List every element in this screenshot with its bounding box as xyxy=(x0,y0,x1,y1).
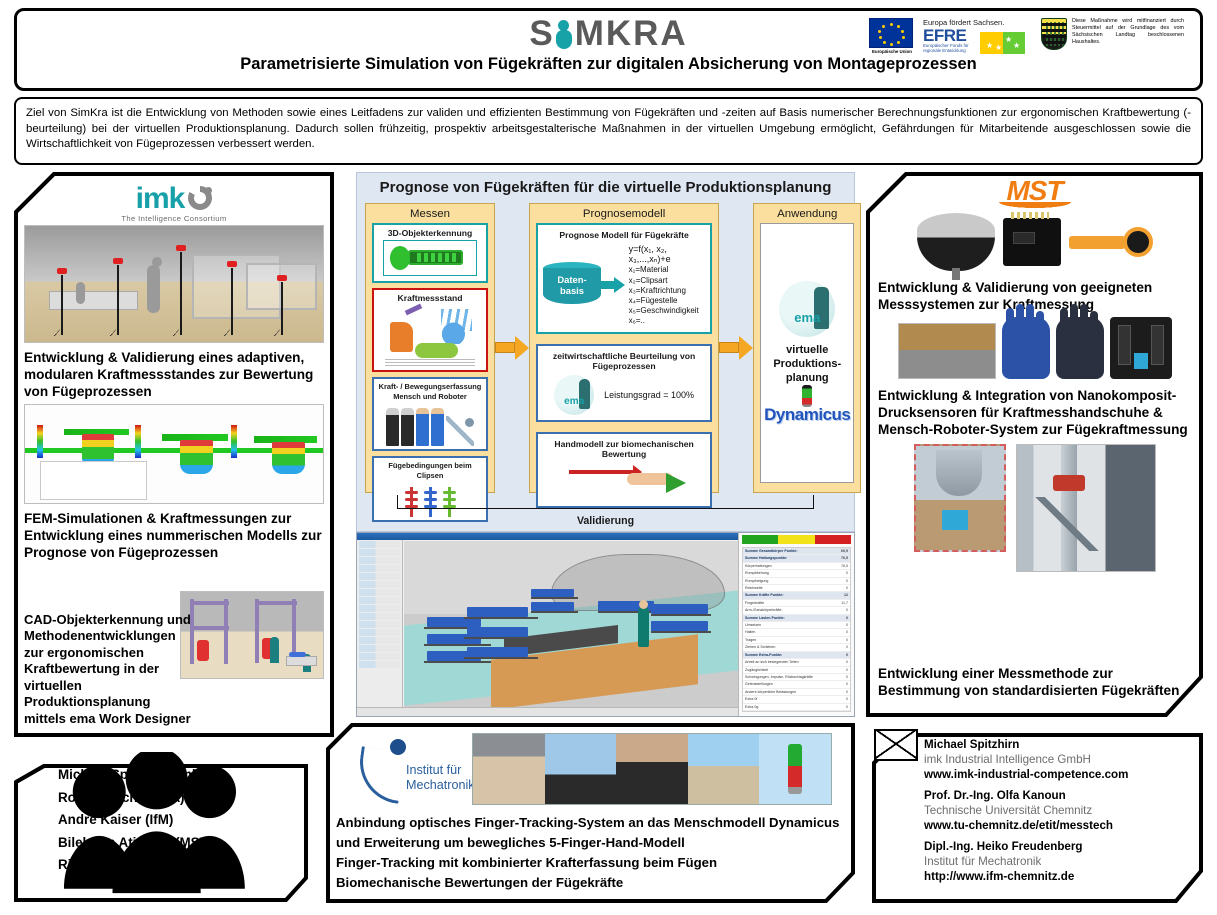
robot-gripper-photo xyxy=(1110,317,1172,379)
ema-badge-icon: ema xyxy=(554,375,594,415)
database-cylinder-icon: Daten- basis xyxy=(543,262,597,308)
sensor-gloves-photo xyxy=(878,317,1191,379)
eaws-row-value: 0 xyxy=(846,644,848,650)
eaws-row-value: 0 xyxy=(846,674,848,680)
table-row: Summe Kräfte Punkte:12 xyxy=(743,592,850,599)
prognosis-flow-diagram: Prognose von Fügekräften für die virtuel… xyxy=(356,172,855,532)
eaws-caption-line1: Ergonomiebewertung xyxy=(756,715,838,717)
eaws-row-value: 0 xyxy=(846,622,848,628)
dark-sensor-glove-icon xyxy=(1056,317,1104,379)
card-virtuelle-produktionsplanung: ema virtuelle Produktions- planung Dynam… xyxy=(760,223,854,483)
teal-right-arrow-icon xyxy=(601,277,625,293)
cad-virtual-planning-scene xyxy=(180,591,324,679)
stage-prognosemodell-title: Prognosemodell xyxy=(530,204,718,223)
eaws-row-value: 0 xyxy=(846,659,848,665)
db-label-line2: basis xyxy=(560,285,584,296)
table-row: Gelenkstellungen0 xyxy=(743,681,850,688)
mst-wordmark: MST xyxy=(1006,175,1062,206)
list-item: Roland Michel (imk) xyxy=(58,787,212,810)
leistungsgrad-note: Leistungsgrad = 100% xyxy=(604,390,694,400)
list-item: Michael Spitzhirn (imk) xyxy=(58,764,212,787)
eaws-row-label: Halten xyxy=(745,629,755,635)
contact-entry: Michael Spitzhirn imk Industrial Intelli… xyxy=(924,737,1193,782)
funding-logos: Europäische Union Europa fördert Sachsen… xyxy=(869,18,1184,54)
ema-tool-panel[interactable] xyxy=(357,540,403,707)
table-row: Tragen0 xyxy=(743,637,850,644)
contact-name: Prof. Dr.-Ing. Olfa Kanoun xyxy=(924,788,1193,803)
ifm-swoosh-icon xyxy=(355,746,406,804)
eaws-traffic-light-bar xyxy=(742,535,851,544)
ifm-section: Institut für Mechatronik Anbindung optis… xyxy=(326,723,855,903)
flexible-force-sensor-icon xyxy=(1069,227,1153,257)
left-column-imk: imk The Intelligence Consortium xyxy=(14,172,334,737)
dynamicus-logo: Dynamicus xyxy=(764,405,850,425)
list-item: Anbindung optisches Finger-Tracking-Syst… xyxy=(336,813,843,853)
table-row: Summe Haltungspunkte:76,5 xyxy=(743,555,850,562)
efre-logo: Europa fördert Sachsen. EFRE Europäische… xyxy=(923,18,1033,54)
formula-equation: y=f(x₁, x₂, x₃,...,xₙ)+e xyxy=(629,244,706,264)
strip-photo-4 xyxy=(688,734,760,804)
right-section-heading-2: Entwicklung & Integration von Nanokompos… xyxy=(878,387,1191,438)
table-row: Arm-/Ganzkörperkräfte0 xyxy=(743,607,850,614)
eaws-row-value: 0 xyxy=(846,696,848,702)
saxony-logo: Diese Maßnahme wird mitfinanziert durch … xyxy=(1041,18,1184,50)
eaws-row-value: 0 xyxy=(846,704,848,710)
table-row: Zugänglichkeit0 xyxy=(743,667,850,674)
eaws-row-label: Fingerkräfte xyxy=(745,600,764,606)
table-row: Andere körperliche Belastungen0 xyxy=(743,689,850,696)
eaws-row-label: Umsetzen xyxy=(745,622,761,628)
list-item: André Kaiser (IfM) xyxy=(58,809,212,832)
strip-photo-1 xyxy=(473,734,545,804)
card-title: Fügebedingungen beim Clipsen xyxy=(377,461,483,481)
imk-wordmark: imk xyxy=(136,182,185,216)
simkra-logo-pre: S xyxy=(529,14,554,53)
stage-anwendung: Anwendung ema virtuelle Produktions- pla… xyxy=(753,203,861,493)
efre-wordmark: EFRE xyxy=(923,28,977,43)
force-sensors-photo xyxy=(878,213,1191,271)
eaws-row-label: Körperhaltungen xyxy=(745,563,772,569)
table-row: Extra 0f0 xyxy=(743,696,850,703)
table-row: Arbeit an sich bewegenden Teilen0 xyxy=(743,659,850,666)
eaws-row-value: 0 xyxy=(846,607,848,613)
eaws-row-value: 12 xyxy=(844,592,848,598)
strip-photo-5 xyxy=(759,734,831,804)
stage-prognosemodell: Prognosemodell Prognose Modell für Fügek… xyxy=(529,203,719,493)
dynamicus-wordmark: Dynamicus xyxy=(764,405,850,424)
contact-org: imk Industrial Intelligence GmbH xyxy=(924,752,1193,767)
table-row: Summe Lasten Punkte:0 xyxy=(743,615,850,622)
eaws-row-label: Schwingungen, Impulse, Rückschlagkräfte xyxy=(745,674,813,680)
eaws-row-label: Zugänglichkeit xyxy=(745,667,768,673)
test-bench-photo xyxy=(898,323,996,379)
table-row: Schwingungen, Impulse, Rückschlagkräfte0 xyxy=(743,674,850,681)
table-row: Summe Gesamtkörper Punkte:60,9 xyxy=(743,548,850,555)
formula-var: x₂=Clipsart xyxy=(629,276,706,286)
finger-tracking-strip xyxy=(472,733,832,805)
eaws-row-value: 0 xyxy=(846,585,848,591)
card-title: Handmodell zur biomechanischen Bewertung xyxy=(543,439,705,459)
imk-logo: imk The Intelligence Consortium xyxy=(24,178,324,223)
eaws-row-label: Extra 0f xyxy=(745,696,757,702)
saxony-funding-note: Diese Maßnahme wird mitfinanziert durch … xyxy=(1072,18,1184,46)
eaws-row-label: Summe Lasten Punkte: xyxy=(745,615,785,621)
eaws-row-value: 0 xyxy=(846,689,848,695)
contact-url[interactable]: www.imk-industrial-competence.com xyxy=(924,767,1193,782)
eaws-row-label: Extra 0g xyxy=(745,704,758,710)
contact-org: Institut für Mechatronik xyxy=(924,854,1193,869)
saxony-eu-chip-icon: ★ ★ ★ ★ xyxy=(980,32,1025,54)
eaws-row-label: Summe Haltungspunkte: xyxy=(745,555,787,561)
abstract-text: Ziel von SimKra ist die Entwicklung von … xyxy=(14,97,1203,165)
eaws-caption: Ergonomiebewertung mittels EAWS xyxy=(739,715,854,717)
gripper-closeup-inset xyxy=(914,444,1006,552)
eaws-row-label: Rumpfdrehung xyxy=(745,570,769,576)
hand-pointer-icon xyxy=(555,21,575,51)
contact-box: Michael Spitzhirn imk Industrial Intelli… xyxy=(866,727,1203,903)
strip-photo-2 xyxy=(545,734,617,804)
tensile-test-machine-photo xyxy=(878,444,1191,572)
diagram-title: Prognose von Fügekräften für die virtuel… xyxy=(357,173,854,200)
table-row: Körperhaltungen76,5 xyxy=(743,563,850,570)
efre-subtitle: Europäischer Fonds für regionale Entwick… xyxy=(923,43,977,54)
table-row: Umsetzen0 xyxy=(743,622,850,629)
eaws-evaluation-panel: Summe Gesamtkörper Punkte:60,9Summe Halt… xyxy=(738,533,854,716)
eaws-row-label: Tragen xyxy=(745,637,756,643)
eaws-row-value: 0 xyxy=(846,615,848,621)
eaws-row-label: Arbeit an sich bewegenden Teilen xyxy=(745,659,799,665)
sensor-pcb-icon xyxy=(1003,218,1061,266)
author-list: Michael Spitzhirn (imk) Roland Michel (i… xyxy=(58,764,212,877)
contact-url[interactable]: www.tu-chemnitz.de/etit/messtech xyxy=(924,818,1193,833)
eaws-row-value: 60,9 xyxy=(841,548,848,554)
eaws-row-label: Summe Gesamtkörper Punkte: xyxy=(745,548,798,554)
left-section-heading-2: FEM-Simulationen & Kraftmessungen zur En… xyxy=(24,510,324,561)
eaws-row-label: Ziehen & Schieben xyxy=(745,644,775,650)
eaws-row-value: 0 xyxy=(846,667,848,673)
card-kraft-bewegungserfassung: Kraft- / Bewegungserfassung Mensch und R… xyxy=(372,377,488,451)
contact-list: Michael Spitzhirn imk Industrial Intelli… xyxy=(924,737,1193,890)
card-zeitwirtschaftliche-beurteilung: zeitwirtschaftliche Beurteilung von Füge… xyxy=(536,344,712,422)
eaws-row-label: Gelenkstellungen xyxy=(745,681,773,687)
ema-3d-view xyxy=(357,533,738,716)
formula-var: x₄=Fügestelle xyxy=(629,296,706,306)
contact-org: Technische Universität Chemnitz xyxy=(924,803,1193,818)
eaws-row-value: 0 xyxy=(846,681,848,687)
eaws-row-value: 0 xyxy=(846,570,848,576)
page-title: Parametrisierte Simulation von Fügekräft… xyxy=(17,55,1200,74)
ema-work-designer-screenshot: Summe Gesamtkörper Punkte:60,9Summe Halt… xyxy=(356,532,855,717)
eaws-row-label: Rumpfneigung xyxy=(745,578,768,584)
fem-simulation-figure xyxy=(24,404,324,504)
stage-messen-title: Messen xyxy=(366,204,494,223)
ema-titlebar xyxy=(357,533,738,540)
eaws-row-label: Andere körperliche Belastungen xyxy=(745,689,796,695)
ifm-logo-line1: Institut für xyxy=(406,763,461,777)
list-item: Bilel Ben Atitallah (MST) xyxy=(58,832,212,855)
flow-arrow-1-icon xyxy=(495,336,529,360)
list-item: Rim Barioul (MST) xyxy=(58,854,212,877)
eaws-row-value: 0 xyxy=(846,637,848,643)
table-row: Reichweite0 xyxy=(743,585,850,592)
card-title: Prognose Modell für Fügekräfte xyxy=(543,230,705,240)
motion-capture-lab-photo xyxy=(24,225,324,343)
eaws-row-value: 0 xyxy=(846,629,848,635)
eaws-row-label: Summe Extra-Punkte: xyxy=(745,652,782,658)
formula-var: x₃=Kraftrichtung xyxy=(629,286,706,296)
ifm-logo-line2: Mechatronik xyxy=(406,778,475,792)
imk-circle-icon xyxy=(188,186,212,210)
contact-entry: Prof. Dr.-Ing. Olfa Kanoun Technische Un… xyxy=(924,788,1193,833)
eaws-row-value: 76,5 xyxy=(841,555,848,561)
universal-testing-machine xyxy=(1016,444,1156,572)
table-row: Extra 0g0 xyxy=(743,704,850,711)
ema-statusbar xyxy=(357,707,738,716)
eaws-row-label: Reichweite xyxy=(745,585,763,591)
simkra-logo-post: MKRA xyxy=(575,14,688,53)
ifm-logo-text: Institut für Mechatronik xyxy=(406,763,475,793)
card-fuegebedingungen-clipsen: Fügebedingungen beim Clipsen xyxy=(372,456,488,522)
db-label-line1: Daten- xyxy=(557,274,586,285)
stage-anwendung-title: Anwendung xyxy=(754,204,860,223)
ifm-logo: Institut für Mechatronik xyxy=(344,737,462,803)
validation-loop-line xyxy=(397,495,814,509)
card-title: Kraftmessstand xyxy=(377,293,483,303)
contact-name: Michael Spitzhirn xyxy=(924,737,1193,752)
eu-flag-icon xyxy=(869,18,913,48)
ema-badge-large-icon: ema xyxy=(779,281,835,337)
table-row: Rumpfdrehung0 xyxy=(743,570,850,577)
right-section-heading-1: Entwicklung & Validierung von geeigneten… xyxy=(878,279,1191,313)
poster-canvas: SMKRA Parametrisierte Simulation von Füg… xyxy=(0,0,1217,915)
flow-arrow-2-icon xyxy=(719,336,753,360)
list-item: Biomechanische Bewertungen der Fügekräft… xyxy=(336,873,843,893)
eaws-score-table: Summe Gesamtkörper Punkte:60,9Summe Halt… xyxy=(742,547,851,712)
list-item: Finger-Tracking mit kombinierter Krafter… xyxy=(336,853,843,873)
envelope-icon xyxy=(874,729,918,761)
card-3d-objekterkennung: 3D-Objekterkennung xyxy=(372,223,488,283)
right-section-heading-3: Entwicklung einer Messmethode zur Bestim… xyxy=(878,665,1189,699)
card-prognose-modell: Prognose Modell für Fügekräfte Daten- ba… xyxy=(536,223,712,334)
stage-messen: Messen 3D-Objekterkennung Kraftmessstand xyxy=(365,203,495,493)
authors-box: Michael Spitzhirn (imk) Roland Michel (i… xyxy=(14,752,308,902)
table-row: Halten0 xyxy=(743,629,850,636)
anwendung-line1: virtuelle xyxy=(773,343,841,357)
contact-name: Dipl.-Ing. Heiko Freudenberg xyxy=(924,839,1193,854)
contact-entry: Dipl.-Ing. Heiko Freudenberg Institut fü… xyxy=(924,839,1193,884)
strip-photo-3 xyxy=(616,734,688,804)
eaws-row-value: 76,5 xyxy=(841,563,848,569)
formula-var: x₅=Geschwindigkeit xyxy=(629,306,706,316)
anwendung-line2: Produktions- xyxy=(773,357,841,371)
left-section-heading-1: Entwicklung & Validierung eines adaptive… xyxy=(24,349,324,400)
card-title: Kraft- / Bewegungserfassung Mensch und R… xyxy=(377,382,483,402)
formula-var: x₁=Material xyxy=(629,265,706,275)
load-cell-sensor-icon xyxy=(917,213,995,271)
saxony-coat-of-arms-icon xyxy=(1041,18,1067,50)
imk-tagline: The Intelligence Consortium xyxy=(24,214,324,223)
eaws-row-value: 11,7 xyxy=(841,600,848,606)
formula-var: x₆=.. xyxy=(629,316,706,326)
eaws-row-label: Summe Kräfte Punkte: xyxy=(745,592,784,598)
card-title: 3D-Objekterkennung xyxy=(377,228,483,238)
eaws-row-value: 0 xyxy=(846,578,848,584)
force-measurement-rig-icon xyxy=(377,303,483,367)
contact-url[interactable]: http://www.ifm-chemnitz.de xyxy=(924,869,1193,884)
table-row: Rumpfneigung0 xyxy=(743,578,850,585)
prognosis-formula: y=f(x₁, x₂, x₃,...,xₙ)+e x₁=Material x₂=… xyxy=(629,244,706,327)
worker-avatar xyxy=(638,607,649,647)
anwendung-line3: planung xyxy=(773,371,841,385)
eaws-row-value: 0 xyxy=(846,652,848,658)
validation-label: Validierung xyxy=(371,515,840,527)
green-clip-3d-scan-icon xyxy=(383,240,477,276)
card-kraftmessstand: Kraftmessstand xyxy=(372,288,488,372)
poster-header: SMKRA Parametrisierte Simulation von Füg… xyxy=(14,8,1203,91)
human-robot-capture-icon xyxy=(377,402,483,446)
table-row: Summe Extra-Punkte:0 xyxy=(743,652,850,659)
left-section-heading-3: CAD-Objekterkennung und Methodenentwickl… xyxy=(24,612,194,728)
eu-flag-logo: Europäische Union xyxy=(869,18,915,54)
table-row: Fingerkräfte11,7 xyxy=(743,600,850,607)
ema-viewport[interactable] xyxy=(404,541,738,707)
card-title: zeitwirtschaftliche Beurteilung von Füge… xyxy=(543,351,705,371)
mst-logo: MST xyxy=(878,176,1191,209)
ifm-bullets: Anbindung optisches Finger-Tracking-Syst… xyxy=(336,813,843,893)
right-column-mst: MST Entwicklung & Validierung von geeign… xyxy=(866,172,1203,717)
blue-sensor-glove-icon xyxy=(1002,317,1050,379)
eu-flag-caption: Europäische Union xyxy=(869,49,915,54)
eaws-row-label: Arm-/Ganzkörperkräfte xyxy=(745,607,782,613)
table-row: Ziehen & Schieben0 xyxy=(743,644,850,651)
